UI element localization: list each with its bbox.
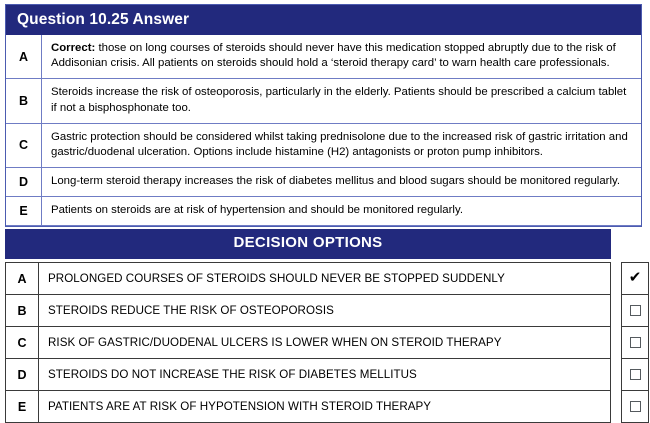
answer-table-body: A Correct: those on long courses of ster… — [6, 35, 641, 226]
answer-row-body: Gastric protection should be considered … — [51, 131, 628, 158]
checkbox-cell-a[interactable]: ✔ — [622, 263, 649, 295]
checkbox-cell-e[interactable] — [622, 391, 649, 423]
table-row: B STEROIDS REDUCE THE RISK OF OSTEOPOROS… — [6, 295, 611, 327]
table-row — [622, 391, 649, 423]
decision-row-statement: STEROIDS REDUCE THE RISK OF OSTEOPOROSIS — [39, 295, 611, 327]
decision-row-statement: STEROIDS DO NOT INCREASE THE RISK OF DIA… — [39, 359, 611, 391]
checkbox-cell-c[interactable] — [622, 327, 649, 359]
table-row: D Long-term steroid therapy increases th… — [6, 167, 641, 196]
decision-row-letter: D — [6, 359, 39, 391]
decision-row-statement: PROLONGED COURSES OF STEROIDS SHOULD NEV… — [39, 263, 611, 295]
decision-options-table: A PROLONGED COURSES OF STEROIDS SHOULD N… — [5, 262, 611, 423]
answer-panel-title: Question 10.25 Answer — [6, 5, 641, 35]
decision-options-title: DECISION OPTIONS — [5, 229, 611, 259]
table-row: E PATIENTS ARE AT RISK OF HYPOTENSION WI… — [6, 391, 611, 423]
decision-row-letter: B — [6, 295, 39, 327]
empty-checkbox-icon — [630, 401, 641, 412]
answer-row-body: those on long courses of steroids should… — [51, 42, 616, 69]
answer-row-letter: D — [6, 167, 42, 196]
answer-row-text: Correct: those on long courses of steroi… — [42, 35, 642, 79]
answer-row-lead: Correct: — [51, 42, 95, 54]
table-row: B Steroids increase the risk of osteopor… — [6, 79, 641, 123]
answer-row-text: Gastric protection should be considered … — [42, 123, 642, 167]
answer-row-text: Patients on steroids are at risk of hype… — [42, 197, 642, 226]
empty-checkbox-icon — [630, 369, 641, 380]
empty-checkbox-icon — [630, 337, 641, 348]
answer-row-body: Steroids increase the risk of osteoporos… — [51, 86, 626, 113]
decision-checkbox-body: ✔ — [622, 263, 649, 423]
answer-row-body: Patients on steroids are at risk of hype… — [51, 204, 463, 216]
decision-row-letter: C — [6, 327, 39, 359]
table-row: E Patients on steroids are at risk of hy… — [6, 197, 641, 226]
table-row: D STEROIDS DO NOT INCREASE THE RISK OF D… — [6, 359, 611, 391]
decision-row-letter: A — [6, 263, 39, 295]
table-row — [622, 295, 649, 327]
decision-row-statement: PATIENTS ARE AT RISK OF HYPOTENSION WITH… — [39, 391, 611, 423]
decision-options-body: A PROLONGED COURSES OF STEROIDS SHOULD N… — [6, 263, 611, 423]
table-row: A PROLONGED COURSES OF STEROIDS SHOULD N… — [6, 263, 611, 295]
check-icon: ✔ — [629, 270, 642, 285]
answer-row-letter: A — [6, 35, 42, 79]
checkbox-cell-d[interactable] — [622, 359, 649, 391]
answer-table: A Correct: those on long courses of ster… — [6, 35, 641, 226]
decision-row-statement: RISK OF GASTRIC/DUODENAL ULCERS IS LOWER… — [39, 327, 611, 359]
empty-checkbox-icon — [630, 305, 641, 316]
table-row: C Gastric protection should be considere… — [6, 123, 641, 167]
answer-panel: Question 10.25 Answer A Correct: those o… — [5, 4, 642, 227]
table-row: ✔ — [622, 263, 649, 295]
answer-row-letter: C — [6, 123, 42, 167]
checkbox-cell-b[interactable] — [622, 295, 649, 327]
table-row: C RISK OF GASTRIC/DUODENAL ULCERS IS LOW… — [6, 327, 611, 359]
decision-checkbox-column: ✔ — [621, 262, 649, 423]
answer-row-letter: E — [6, 197, 42, 226]
answer-row-letter: B — [6, 79, 42, 123]
answer-row-text: Steroids increase the risk of osteoporos… — [42, 79, 642, 123]
table-row — [622, 359, 649, 391]
question-answer-sheet: Question 10.25 Answer A Correct: those o… — [0, 0, 650, 411]
table-row: A Correct: those on long courses of ster… — [6, 35, 641, 79]
decision-row-letter: E — [6, 391, 39, 423]
table-row — [622, 327, 649, 359]
answer-row-body: Long-term steroid therapy increases the … — [51, 175, 620, 187]
answer-row-text: Long-term steroid therapy increases the … — [42, 167, 642, 196]
